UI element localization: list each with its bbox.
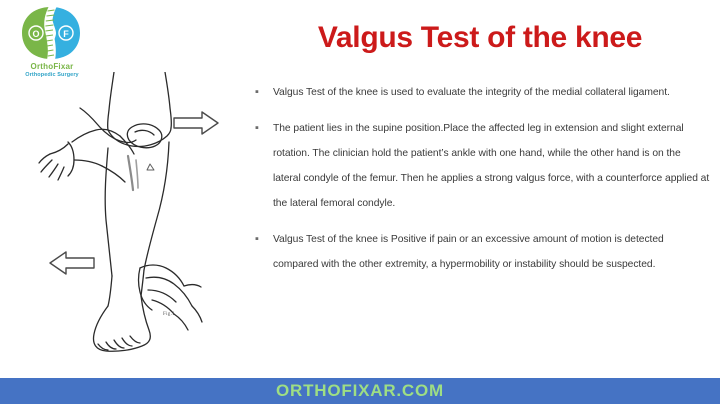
bullet-marker: ▪ (252, 80, 273, 105)
bullet-marker: ▪ (252, 116, 273, 141)
bullet-text: The patient lies in the supine position.… (273, 116, 710, 216)
orthofixar-spine-logo: O F (18, 4, 84, 62)
footer-banner: ORTHOFIXAR.COM (0, 378, 720, 404)
arrow-right (174, 112, 218, 134)
bullet-marker: ▪ (252, 227, 273, 252)
list-item: ▪ The patient lies in the supine positio… (252, 116, 710, 216)
bullet-text: Valgus Test of the knee is used to evalu… (273, 80, 710, 105)
brand-name: OrthoFixar (6, 62, 98, 71)
illustration-caption: Fig.1 (163, 312, 175, 317)
bullet-list: ▪ Valgus Test of the knee is used to eva… (252, 80, 710, 288)
svg-text:O: O (32, 29, 39, 39)
arrow-left (50, 252, 94, 274)
bullet-text: Valgus Test of the knee is Positive if p… (273, 227, 710, 277)
list-item: ▪ Valgus Test of the knee is used to eva… (252, 80, 710, 105)
svg-text:F: F (63, 29, 69, 39)
page-title: Valgus Test of the knee (250, 21, 710, 55)
list-item: ▪ Valgus Test of the knee is Positive if… (252, 227, 710, 277)
footer-website-label: ORTHOFIXAR.COM (276, 381, 444, 401)
valgus-test-line-drawing: Fig.1 (28, 72, 253, 352)
